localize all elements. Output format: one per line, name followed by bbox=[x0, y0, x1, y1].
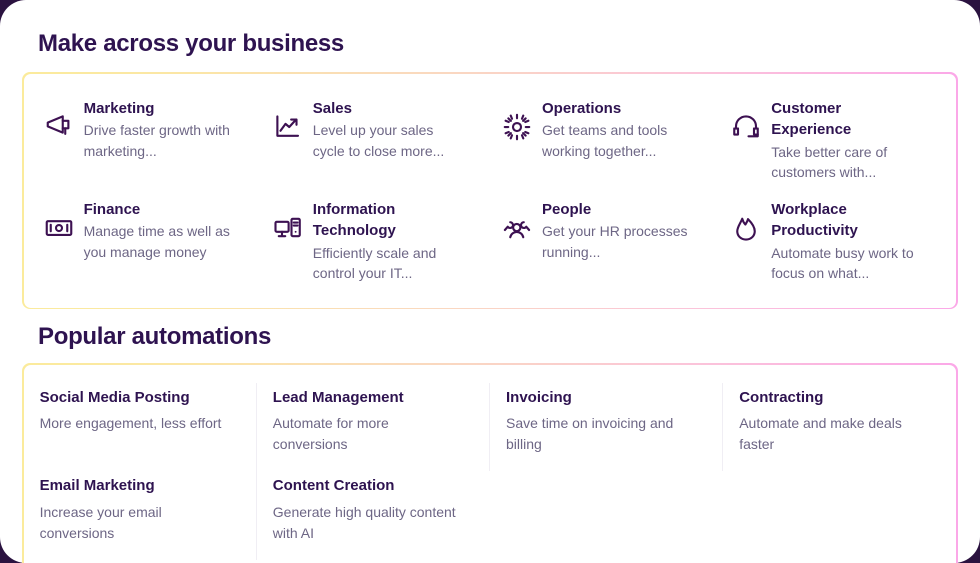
flame-icon bbox=[731, 213, 761, 243]
automation-card-desc: Increase your email conversions bbox=[40, 502, 234, 544]
automation-card-desc: Automate and make deals faster bbox=[739, 413, 934, 455]
business-card-sales[interactable]: Sales Level up your sales cycle to close… bbox=[261, 92, 490, 187]
trending-up-chart-icon bbox=[273, 112, 303, 142]
automation-card-title: Invoicing bbox=[506, 387, 700, 410]
business-card-desc: Manage time as well as you manage money bbox=[84, 221, 236, 262]
business-card-text: Information Technology Efficiently scale… bbox=[313, 197, 465, 284]
business-card-marketing[interactable]: Marketing Drive faster growth with marke… bbox=[32, 92, 261, 187]
business-card-desc: Get teams and tools working together... bbox=[542, 120, 694, 161]
business-card-information-technology[interactable]: Information Technology Efficiently scale… bbox=[261, 193, 490, 288]
business-card-text: Finance Manage time as well as you manag… bbox=[84, 197, 236, 262]
banknote-icon bbox=[44, 213, 74, 243]
automation-card-content-creation[interactable]: Content Creation Generate high quality c… bbox=[257, 471, 490, 560]
business-card-desc: Drive faster growth with marketing... bbox=[84, 120, 236, 161]
business-card-text: Marketing Drive faster growth with marke… bbox=[84, 96, 236, 161]
automation-card-title: Contracting bbox=[739, 387, 934, 410]
business-card-title: Sales bbox=[313, 98, 463, 120]
automation-grid-spacer bbox=[723, 471, 956, 560]
automation-card-social-media-posting[interactable]: Social Media Posting More engagement, le… bbox=[24, 383, 257, 472]
business-card-desc: Automate busy work to focus on what... bbox=[771, 243, 923, 284]
content-panel: Make across your business Marketing Driv bbox=[0, 0, 980, 563]
business-card-text: Operations Get teams and tools working t… bbox=[542, 96, 694, 161]
business-card-title: People bbox=[542, 199, 692, 221]
business-card-title: Workplace Productivity bbox=[771, 199, 921, 243]
popular-automations-grid: Social Media Posting More engagement, le… bbox=[24, 365, 957, 563]
business-card-desc: Efficiently scale and control your IT... bbox=[313, 243, 465, 284]
business-card-text: Sales Level up your sales cycle to close… bbox=[313, 96, 465, 161]
page-root: Make across your business Marketing Driv bbox=[0, 0, 980, 563]
business-card-title: Operations bbox=[542, 98, 692, 120]
business-areas-grid: Marketing Drive faster growth with marke… bbox=[24, 74, 957, 308]
business-card-desc: Take better care of customers with... bbox=[771, 142, 923, 183]
business-card-desc: Get your HR processes running... bbox=[542, 221, 694, 262]
automation-card-desc: Generate high quality content with AI bbox=[273, 502, 468, 544]
business-areas-container: Marketing Drive faster growth with marke… bbox=[22, 72, 958, 309]
business-card-operations[interactable]: Operations Get teams and tools working t… bbox=[490, 92, 719, 187]
business-card-title: Customer Experience bbox=[771, 98, 921, 142]
automation-card-title: Content Creation bbox=[273, 475, 468, 498]
business-card-title: Information Technology bbox=[313, 199, 463, 243]
automation-card-title: Lead Management bbox=[273, 387, 467, 410]
megaphone-icon bbox=[44, 112, 74, 142]
business-card-desc: Level up your sales cycle to close more.… bbox=[313, 120, 465, 161]
automations-section-title: Popular automations bbox=[38, 323, 958, 351]
business-card-people[interactable]: People Get your HR processes running... bbox=[490, 193, 719, 288]
automation-card-desc: Save time on invoicing and billing bbox=[506, 413, 700, 455]
popular-automations-container: Social Media Posting More engagement, le… bbox=[22, 363, 958, 563]
business-card-text: Workplace Productivity Automate busy wor… bbox=[771, 197, 923, 284]
automation-card-contracting[interactable]: Contracting Automate and make deals fast… bbox=[723, 383, 956, 472]
automation-card-desc: More engagement, less effort bbox=[40, 413, 234, 434]
business-card-finance[interactable]: Finance Manage time as well as you manag… bbox=[32, 193, 261, 288]
business-section-title: Make across your business bbox=[38, 30, 958, 58]
headset-icon bbox=[731, 112, 761, 142]
people-group-icon bbox=[502, 213, 532, 243]
business-card-customer-experience[interactable]: Customer Experience Take better care of … bbox=[719, 92, 948, 187]
business-card-workplace-productivity[interactable]: Workplace Productivity Automate busy wor… bbox=[719, 193, 948, 288]
automation-card-email-marketing[interactable]: Email Marketing Increase your email conv… bbox=[24, 471, 257, 560]
automation-card-desc: Automate for more conversions bbox=[273, 413, 467, 455]
automation-card-title: Email Marketing bbox=[40, 475, 234, 498]
automation-grid-spacer bbox=[490, 471, 723, 560]
business-card-text: Customer Experience Take better care of … bbox=[771, 96, 923, 183]
desktop-computer-icon bbox=[273, 213, 303, 243]
automation-card-lead-management[interactable]: Lead Management Automate for more conver… bbox=[257, 383, 490, 472]
business-card-title: Marketing bbox=[84, 98, 234, 120]
gear-icon bbox=[502, 112, 532, 142]
business-card-title: Finance bbox=[84, 199, 234, 221]
automation-card-invoicing[interactable]: Invoicing Save time on invoicing and bil… bbox=[490, 383, 723, 472]
automation-card-title: Social Media Posting bbox=[40, 387, 234, 410]
business-card-text: People Get your HR processes running... bbox=[542, 197, 694, 262]
